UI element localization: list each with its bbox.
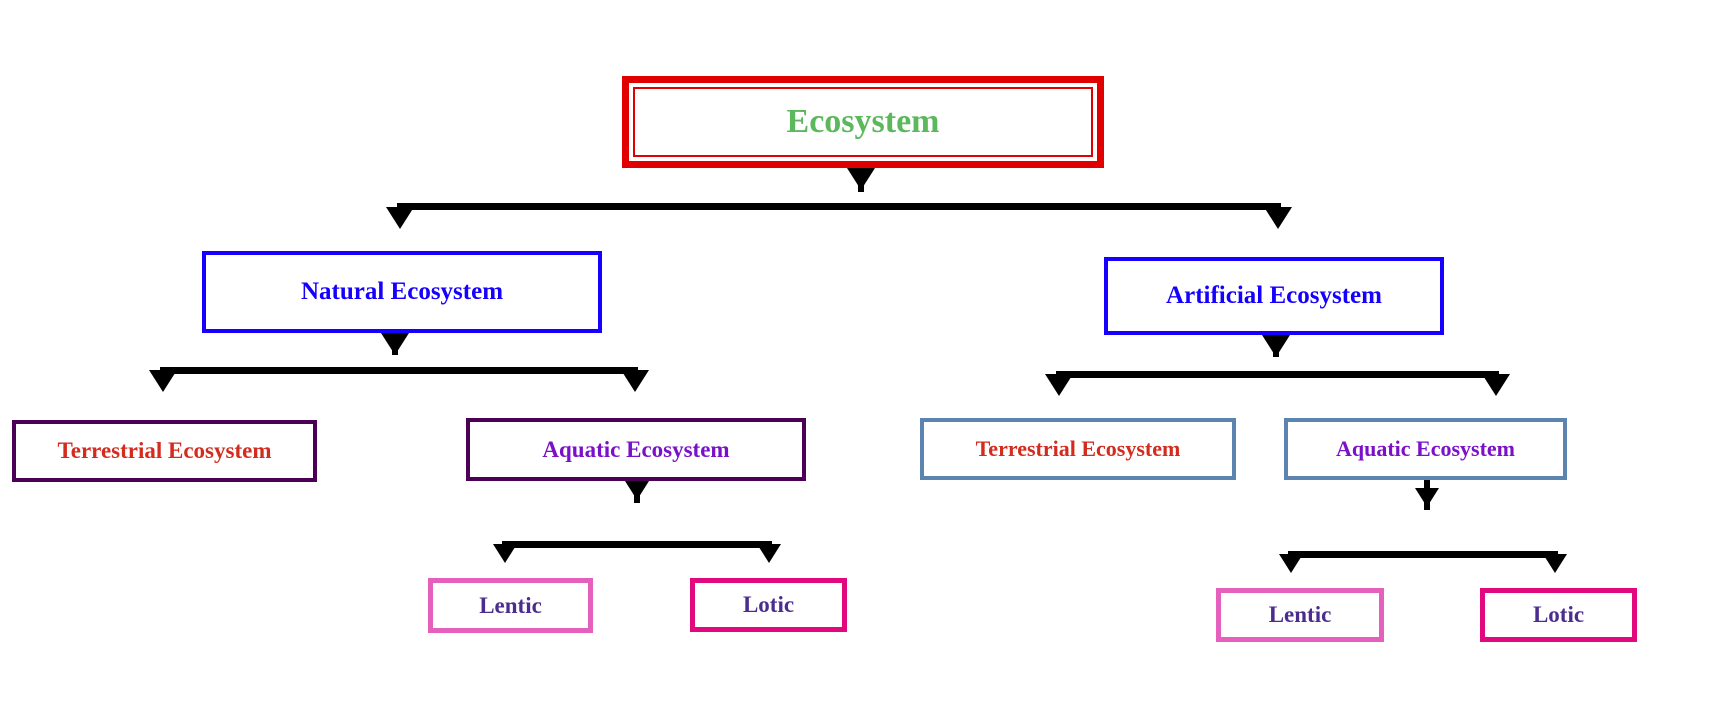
connector-level1-bus [397,203,1281,210]
connector-natural-aquatic-arrowhead [621,370,649,392]
node-artificial-aquatic-ecosystem[interactable]: Aquatic Ecosystem [1284,418,1567,480]
node-artificial-lotic-label: Lotic [1533,602,1584,627]
connector-natural-bus [160,367,638,374]
node-artificial-lotic[interactable]: Lotic [1480,588,1637,642]
node-natural-terrestrial-ecosystem-label: Terrestrial Ecosystem [58,438,272,463]
connector-artificial-stem-arrowhead [1262,335,1290,357]
connector-natural-lotic-arrowhead [757,544,781,563]
node-natural-ecosystem[interactable]: Natural Ecosystem [202,251,602,333]
connector-artificial-terrestrial-arrowhead [1045,374,1073,396]
connector-natural-terrestrial-arrowhead [149,370,177,392]
node-natural-lentic[interactable]: Lentic [428,578,593,633]
node-natural-terrestrial-ecosystem[interactable]: Terrestrial Ecosystem [12,420,317,482]
node-artificial-terrestrial-ecosystem-label: Terrestrial Ecosystem [976,437,1181,461]
node-natural-ecosystem-label: Natural Ecosystem [301,278,503,306]
node-ecosystem-label: Ecosystem [787,103,940,140]
connector-artificial-aquatic-stem-arrowhead [1415,488,1439,507]
connector-natural-arrowhead [386,207,414,229]
node-natural-lotic[interactable]: Lotic [690,578,847,632]
connector-artificial-aquatic-bus [1288,551,1558,558]
connector-artificial-arrowhead [1264,207,1292,229]
connector-natural-aquatic-stem-arrowhead [625,481,649,500]
node-natural-lentic-label: Lentic [479,593,542,618]
connector-artificial-bus [1056,371,1499,378]
node-artificial-ecosystem-label: Artificial Ecosystem [1166,282,1382,310]
connector-artificial-lentic-arrowhead [1279,554,1303,573]
node-natural-aquatic-ecosystem[interactable]: Aquatic Ecosystem [466,418,806,481]
connector-natural-stem-arrowhead [381,333,409,355]
node-ecosystem[interactable]: Ecosystem [622,76,1104,168]
diagram-canvas: Ecosystem Natural Ecosystem Artificial E… [0,0,1716,705]
node-artificial-lentic[interactable]: Lentic [1216,588,1384,642]
node-artificial-ecosystem[interactable]: Artificial Ecosystem [1104,257,1444,335]
node-natural-lotic-label: Lotic [743,592,794,617]
node-artificial-aquatic-ecosystem-label: Aquatic Ecosystem [1336,437,1515,461]
connector-artificial-lotic-arrowhead [1543,554,1567,573]
connector-natural-aquatic-bus [502,541,772,548]
node-artificial-lentic-label: Lentic [1269,602,1332,627]
connector-root-arrowhead [847,168,875,190]
node-artificial-terrestrial-ecosystem[interactable]: Terrestrial Ecosystem [920,418,1236,480]
node-natural-aquatic-ecosystem-label: Aquatic Ecosystem [542,437,729,462]
connector-artificial-aquatic-arrowhead [1482,374,1510,396]
connector-natural-lentic-arrowhead [493,544,517,563]
